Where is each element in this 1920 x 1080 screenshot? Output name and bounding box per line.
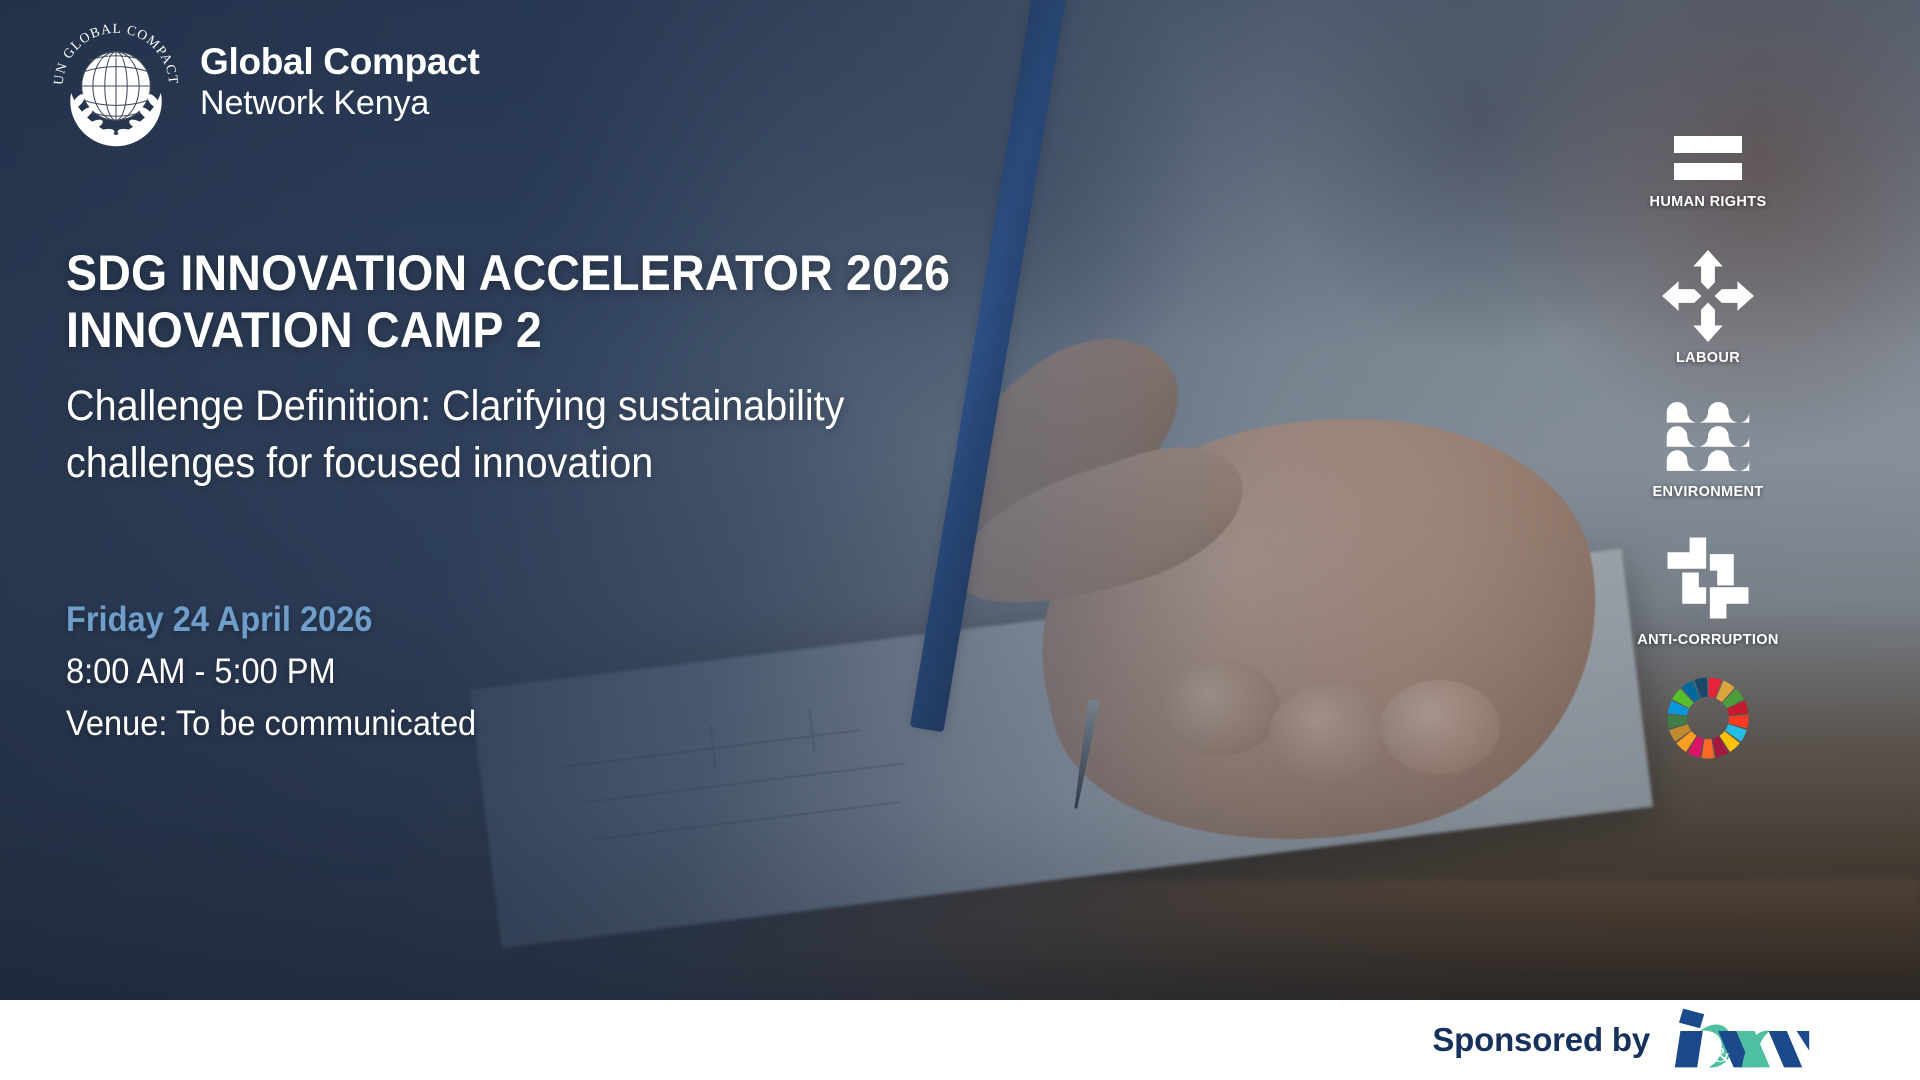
four-arrows-inward-icon xyxy=(1662,250,1754,342)
principle-anti-corruption: ANTI-CORRUPTION xyxy=(1637,532,1778,648)
equals-sign-icon xyxy=(1670,130,1746,186)
event-banner: UN GLOBAL COMPACT xyxy=(0,0,1920,1080)
event-title: SDG INNOVATION ACCELERATOR 2026 INNOVATI… xyxy=(66,245,996,358)
principle-labour: LABOUR xyxy=(1662,250,1754,366)
wordmark-line-1: Global Compact xyxy=(200,43,480,82)
i-and-m-bank-logo: & xyxy=(1672,1007,1812,1074)
event-venue: Venue: To be communicated xyxy=(66,698,476,750)
event-subtitle-line-1: Challenge Definition: Clarifying sustain… xyxy=(66,378,995,435)
interlocking-blocks-icon xyxy=(1662,532,1754,624)
event-time: 8:00 AM - 5:00 PM xyxy=(66,646,476,698)
principle-human-rights: HUMAN RIGHTS xyxy=(1650,130,1767,210)
svg-text:&: & xyxy=(1714,1042,1730,1066)
principle-label: ENVIRONMENT xyxy=(1653,484,1764,500)
principle-label: ANTI-CORRUPTION xyxy=(1637,632,1778,648)
sponsored-by-label: Sponsored by xyxy=(1432,1021,1650,1059)
event-title-line-1: SDG INNOVATION ACCELERATOR 2026 xyxy=(66,245,950,301)
waves-icon xyxy=(1665,402,1751,476)
event-date: Friday 24 April 2026 xyxy=(66,595,476,646)
event-details: Friday 24 April 2026 8:00 AM - 5:00 PM V… xyxy=(66,595,507,749)
ten-principles-rail: HUMAN RIGHTS LABOUR xyxy=(1608,130,1808,762)
un-global-compact-globe-laurel-icon: UN GLOBAL COMPACT xyxy=(46,16,186,156)
principle-label: LABOUR xyxy=(1676,350,1740,366)
principle-label: HUMAN RIGHTS xyxy=(1650,194,1767,210)
event-subtitle: Challenge Definition: Clarifying sustain… xyxy=(66,378,995,492)
sdg-colour-wheel-icon xyxy=(1664,674,1752,762)
event-title-line-2: INNOVATION CAMP 2 xyxy=(66,302,996,359)
global-compact-wordmark: Global Compact Network Kenya xyxy=(200,43,480,129)
event-subtitle-line-2: challenges for focused innovation xyxy=(66,435,995,492)
sponsor-footer: Sponsored by & xyxy=(0,1000,1920,1080)
principle-environment: ENVIRONMENT xyxy=(1653,402,1764,500)
global-compact-logo: UN GLOBAL COMPACT xyxy=(46,16,480,156)
wordmark-line-2: Network Kenya xyxy=(200,84,480,123)
